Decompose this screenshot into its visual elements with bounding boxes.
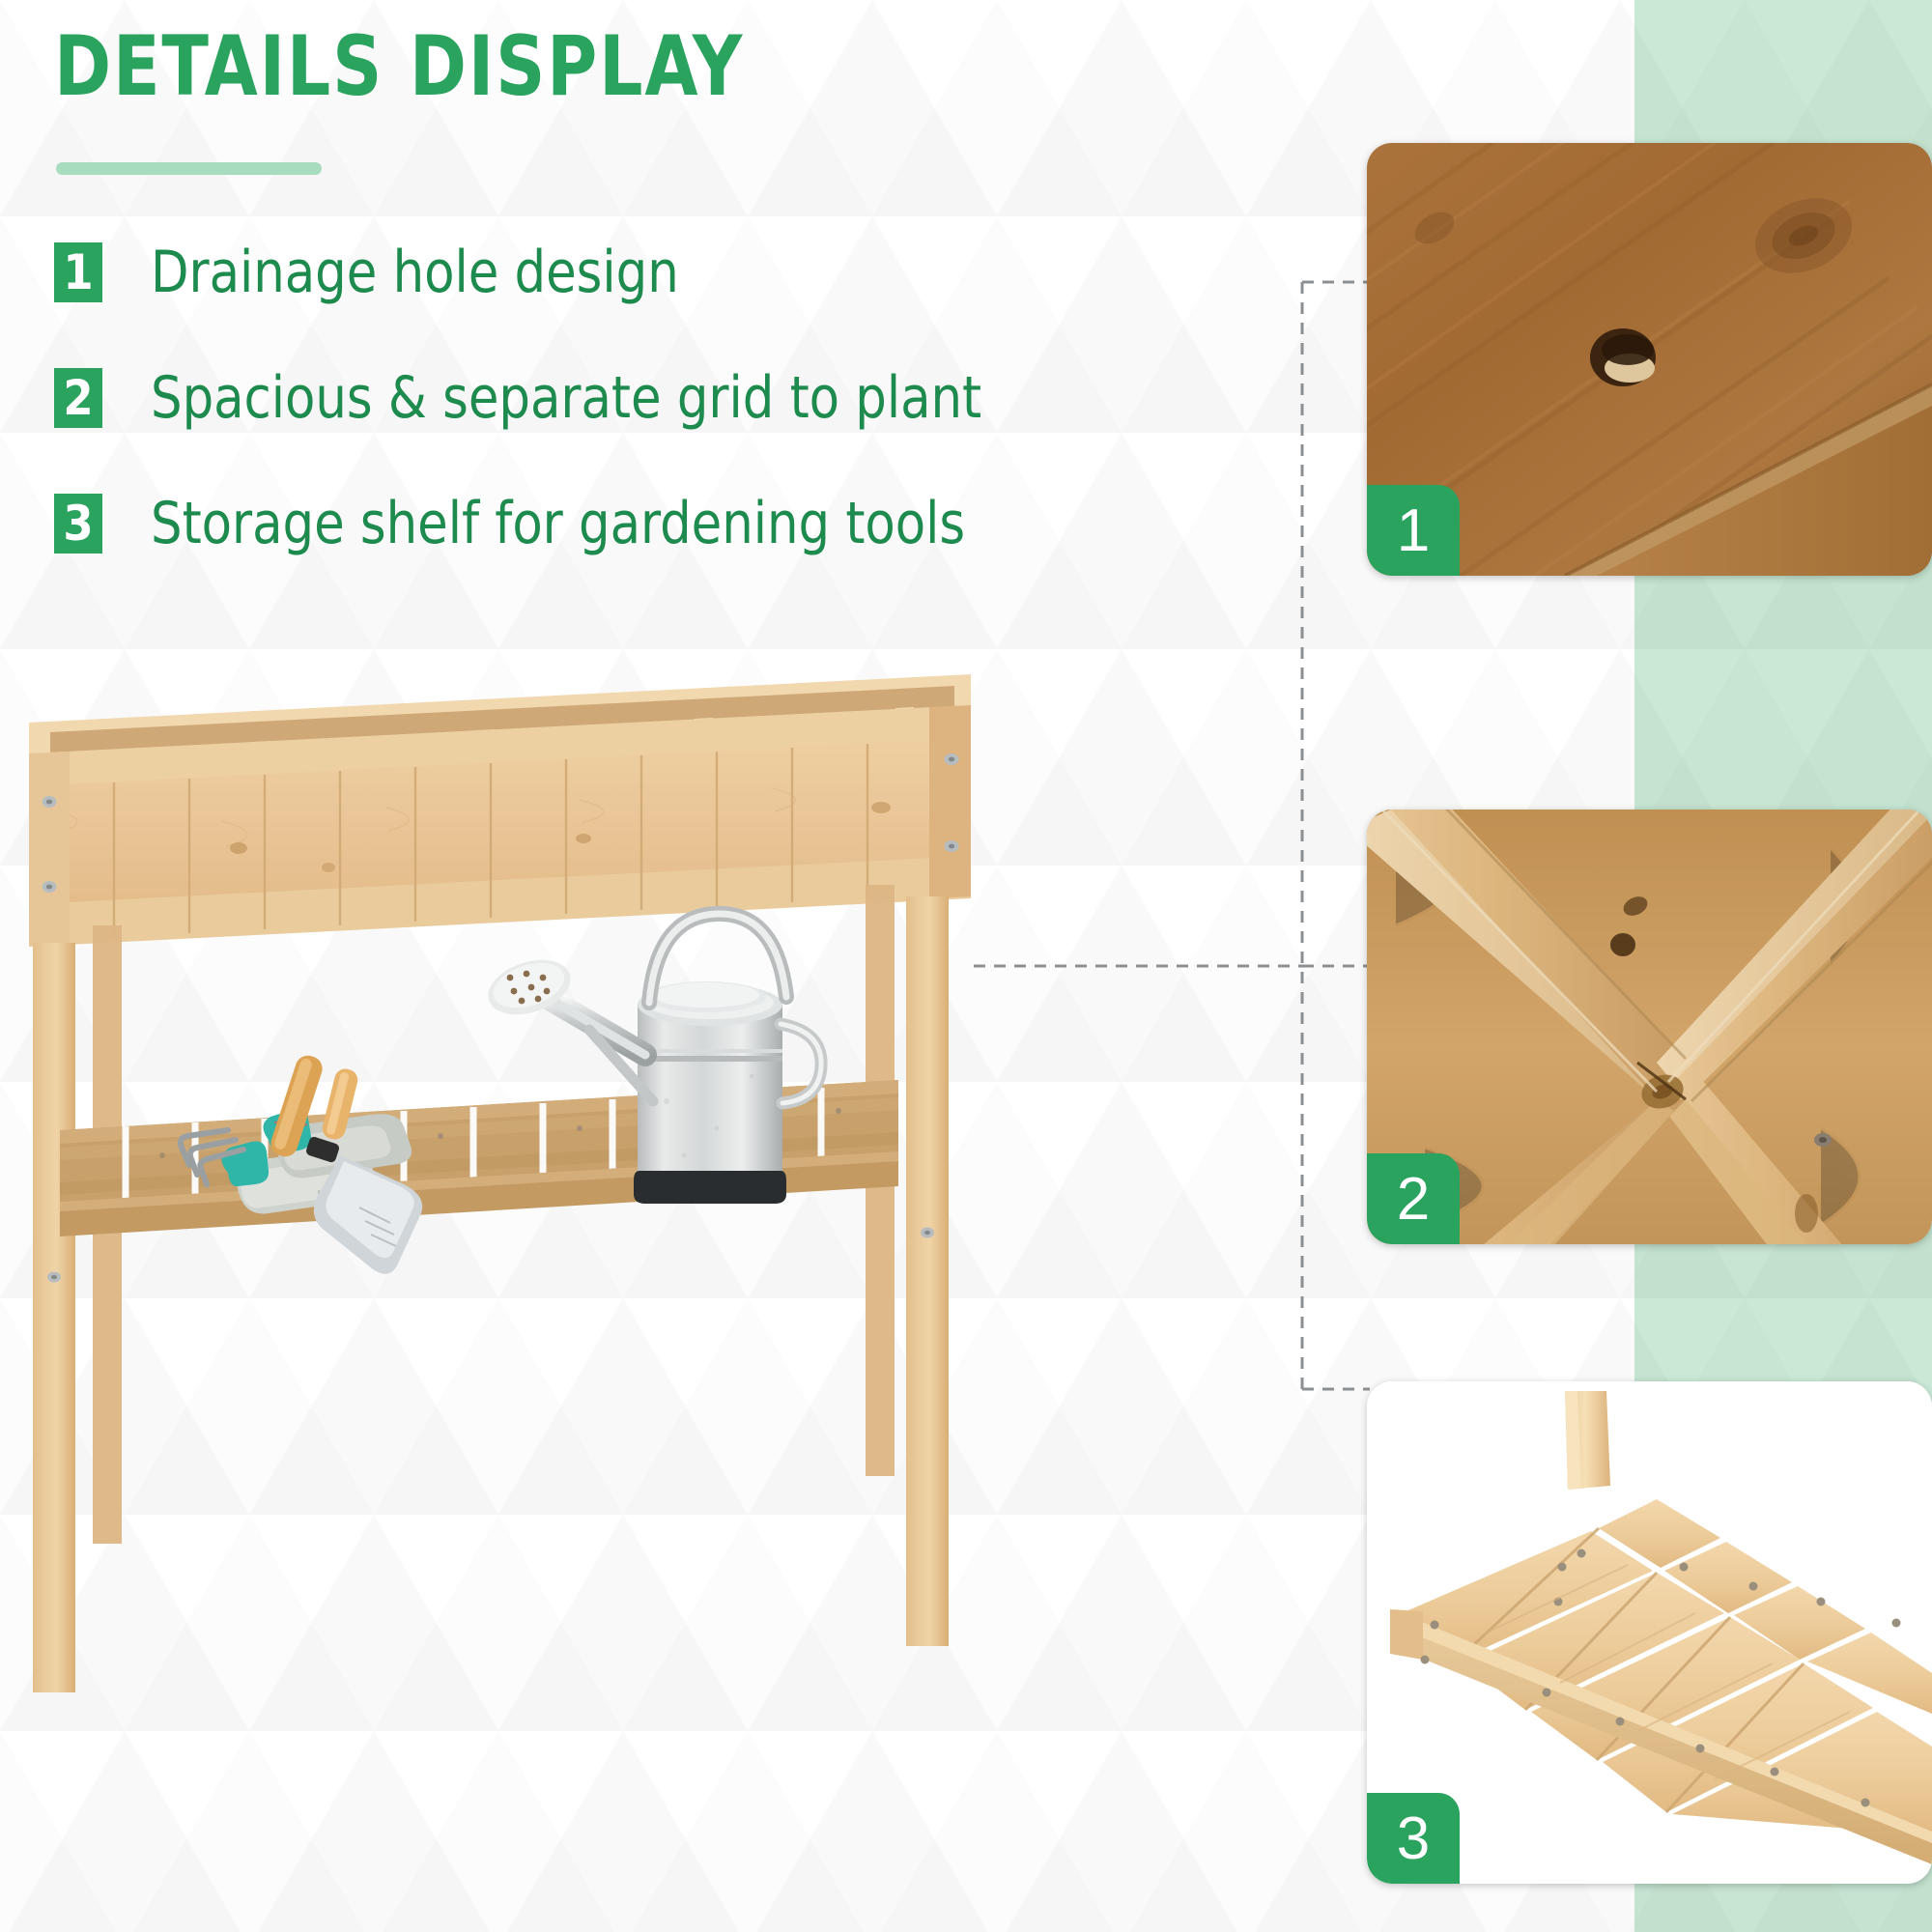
feature-badge-2: 2	[54, 368, 102, 428]
feature-item-1: 1 Drainage hole design	[54, 235, 1030, 360]
feature-label-2: Spacious & separate grid to plant	[151, 360, 981, 436]
detail-panel-3-storage-shelf[interactable]: 3	[1367, 1381, 1932, 1884]
feature-item-3: 3 Storage shelf for gardening tools	[54, 486, 1030, 611]
title-underline	[56, 162, 322, 175]
detail-panel-2-grid-divider[interactable]: 2	[1367, 810, 1932, 1244]
feature-label-1: Drainage hole design	[151, 235, 679, 310]
detail-panel-badge-1: 1	[1367, 485, 1460, 576]
feature-badge-3: 3	[54, 494, 102, 554]
product-image-raised-garden-bed	[0, 618, 1024, 1932]
page-title: DETAILS DISPLAY	[54, 25, 744, 108]
feature-badge-1: 1	[54, 242, 102, 302]
detail-panel-1-drainage-hole[interactable]: 1	[1367, 143, 1932, 576]
planter-box	[29, 674, 971, 947]
feature-item-2: 2 Spacious & separate grid to plant	[54, 360, 1030, 486]
feature-list: 1 Drainage hole design 2 Spacious & sepa…	[54, 235, 1030, 611]
planter-legs	[33, 885, 949, 1692]
detail-panel-badge-2: 2	[1367, 1153, 1460, 1244]
detail-panel-badge-3: 3	[1367, 1793, 1460, 1884]
shelf-post	[1565, 1391, 1610, 1490]
feature-label-3: Storage shelf for gardening tools	[151, 486, 965, 561]
page-stage: DETAILS DISPLAY 1 Drainage hole design 2…	[0, 0, 1932, 1932]
